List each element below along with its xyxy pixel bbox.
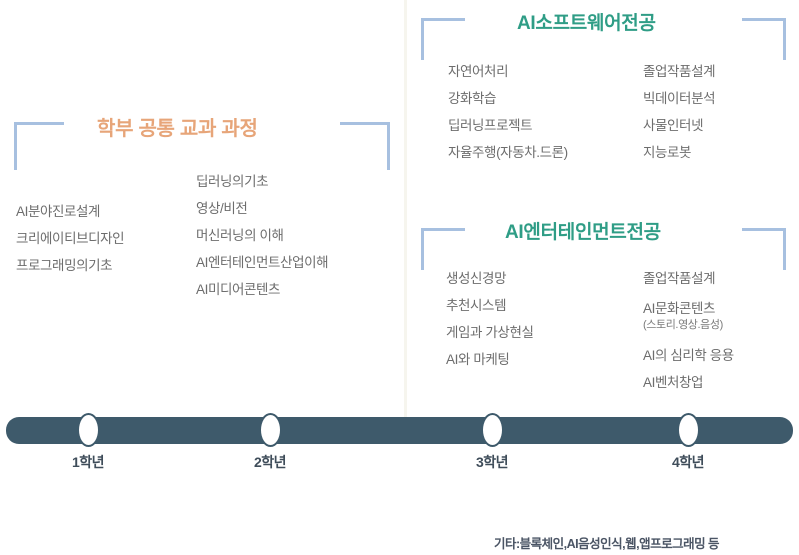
course-item: 자율주행(자동차.드론)	[448, 139, 568, 166]
course-item: 생성신경망	[446, 265, 534, 292]
course-item: 졸업작품설계	[643, 265, 734, 292]
course-item: AI엔터테인먼트산업이해	[196, 249, 328, 276]
software-major-right-course-list: 졸업작품설계 빅데이터분석 사물인터넷 지능로봇	[643, 58, 715, 166]
timeline-node-year1[interactable]	[77, 413, 100, 447]
timeline-node-year2[interactable]	[259, 413, 282, 447]
course-item: 크리에이티브디자인	[16, 225, 124, 252]
course-item-with-subtitle: AI문화콘텐츠 (스토리.영상.음성)	[643, 300, 734, 334]
course-item: 사물인터넷	[643, 112, 715, 139]
course-item-label: AI문화콘텐츠	[643, 301, 715, 316]
course-item: 자연어처리	[448, 58, 568, 85]
entertainment-bracket-left-corner	[421, 228, 465, 270]
timeline-bar	[6, 417, 793, 444]
course-item: AI와 마케팅	[446, 346, 534, 373]
course-item: 게임과 가상현실	[446, 319, 534, 346]
course-item: AI의 심리학 응용	[643, 342, 734, 369]
software-bracket-left-corner	[421, 18, 465, 60]
course-item: AI벤처창업	[643, 369, 734, 396]
timeline-label-year4: 4학년	[643, 452, 733, 472]
course-item: AI미디어콘텐츠	[196, 276, 328, 303]
common-section-title: 학부 공통 교과 과정	[97, 112, 258, 141]
entertainment-major-left-course-list: 생성신경망 추천시스템 게임과 가상현실 AI와 마케팅	[446, 265, 534, 373]
entertainment-major-title: AI엔터테인먼트전공	[505, 217, 661, 244]
software-major-title: AI소프트웨어전공	[517, 8, 656, 35]
course-item: 딥러닝프로젝트	[448, 112, 568, 139]
common-year1-course-list: AI분야진로설계 크리에이티브디자인 프로그래밍의기초	[16, 198, 124, 279]
software-bracket-right-corner	[742, 18, 786, 60]
course-item: 빅데이터분석	[643, 85, 715, 112]
timeline-node-year4[interactable]	[677, 413, 700, 447]
common-bracket-left-corner	[14, 122, 64, 170]
entertainment-major-right-course-list: 졸업작품설계 AI문화콘텐츠 (스토리.영상.음성) AI의 심리학 응용 AI…	[643, 265, 734, 396]
timeline-label-year3: 3학년	[447, 452, 537, 472]
software-major-left-course-list: 자연어처리 강화학습 딥러닝프로젝트 자율주행(자동차.드론)	[448, 58, 568, 166]
footnote-text: 기타:블록체인,AI음성인식,웹,앱프로그래밍 등	[494, 533, 719, 552]
curriculum-roadmap-diagram: 학부 공통 교과 과정 AI분야진로설계 크리에이티브디자인 프로그래밍의기초 …	[0, 0, 799, 555]
common-bracket-right-corner	[340, 122, 390, 170]
course-item: AI분야진로설계	[16, 198, 124, 225]
timeline-node-year3[interactable]	[481, 413, 504, 447]
timeline-label-year1: 1학년	[43, 452, 133, 472]
course-item: 강화학습	[448, 85, 568, 112]
course-item: 영상/비전	[196, 195, 328, 222]
course-item-sublabel: (스토리.영상.음성)	[643, 317, 734, 334]
vertical-divider	[404, 0, 407, 420]
course-item: 딥러닝의기초	[196, 168, 328, 195]
timeline-label-year2: 2학년	[225, 452, 315, 472]
course-item: 지능로봇	[643, 139, 715, 166]
course-item: 머신러닝의 이해	[196, 222, 328, 249]
course-item: 프로그래밍의기초	[16, 252, 124, 279]
entertainment-bracket-right-corner	[742, 228, 786, 270]
course-item: 졸업작품설계	[643, 58, 715, 85]
course-item: 추천시스템	[446, 292, 534, 319]
common-year2-course-list: 딥러닝의기초 영상/비전 머신러닝의 이해 AI엔터테인먼트산업이해 AI미디어…	[196, 168, 328, 303]
